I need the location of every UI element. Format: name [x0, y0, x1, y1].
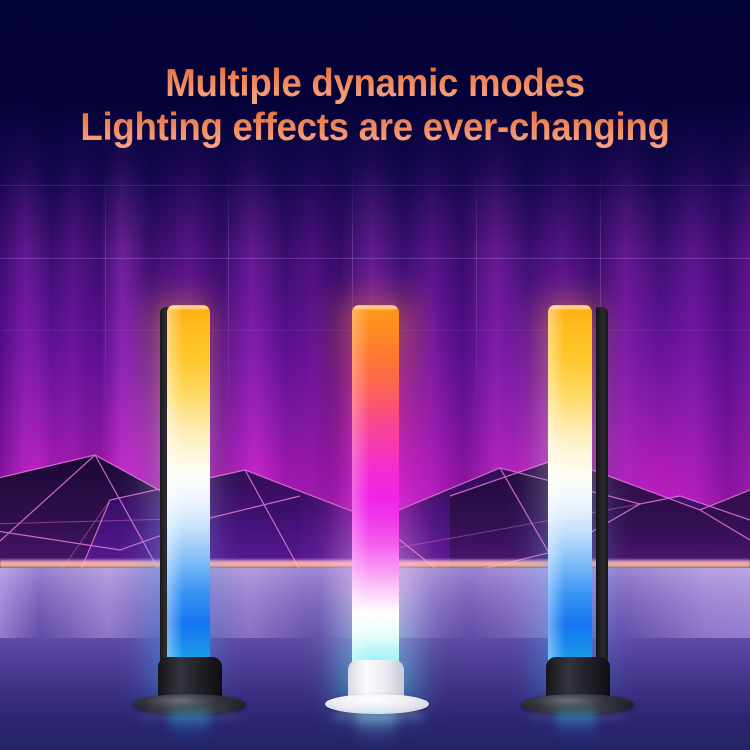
- headline-line-1: Multiple dynamic modes: [23, 62, 728, 106]
- right-bar-disc-reflection: [528, 706, 628, 726]
- center-bar-panel: [352, 305, 399, 693]
- left-bar-top-rim: [169, 306, 208, 309]
- right-bar-sheen: [548, 305, 565, 691]
- headline-line-2: Lighting effects are ever-changing: [23, 106, 728, 150]
- center-bar-disc-reflection: [332, 706, 424, 726]
- left-bar-panel: [167, 305, 210, 689]
- right-bar-panel: [548, 305, 592, 691]
- center-bar-sheen: [352, 305, 370, 693]
- product-banner-scene: Multiple dynamic modes Lighting effects …: [0, 0, 750, 750]
- grid-line-horizontal: [0, 258, 750, 259]
- left-bar-sheen: [167, 305, 183, 689]
- center-bar-top-rim: [354, 306, 397, 309]
- left-bar-disc-reflection: [140, 706, 240, 726]
- right-bar-top-rim: [550, 306, 590, 309]
- right-bar-housing: [596, 307, 608, 689]
- headline-block: Multiple dynamic modes Lighting effects …: [0, 62, 750, 150]
